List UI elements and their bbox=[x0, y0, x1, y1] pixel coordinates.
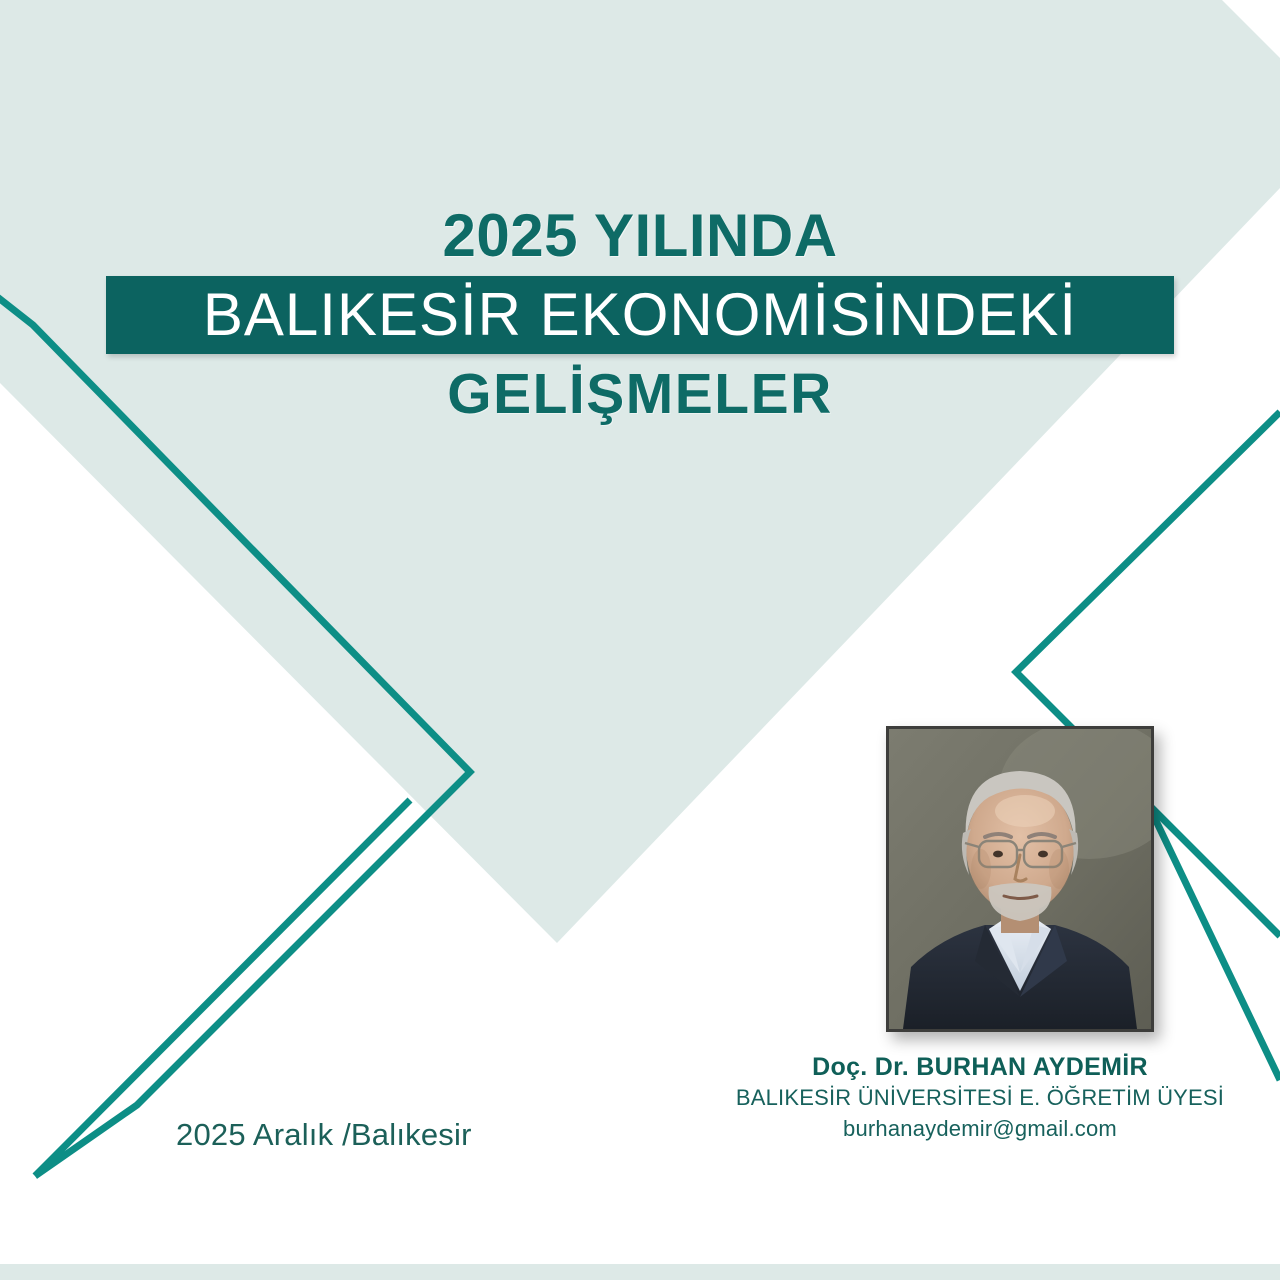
presenter-name: Doç. Dr. BURHAN AYDEMİR bbox=[700, 1052, 1260, 1083]
title-banner-text: BALIKESİR EKONOMİSİNDEKİ bbox=[203, 285, 1077, 345]
presentation-slide: 2025 YILINDA BALIKESİR EKONOMİSİNDEKİ GE… bbox=[0, 0, 1280, 1280]
date-and-place: 2025 Aralık /Balıkesir bbox=[176, 1117, 472, 1153]
presenter-affiliation: BALIKESİR ÜNİVERSİTESİ E. ÖĞRETİM ÜYESİ bbox=[700, 1083, 1260, 1113]
title-block: 2025 YILINDA BALIKESİR EKONOMİSİNDEKİ GE… bbox=[0, 206, 1280, 423]
bottom-band bbox=[0, 1264, 1280, 1280]
presenter-info: Doç. Dr. BURHAN AYDEMİR BALIKESİR ÜNİVER… bbox=[700, 1052, 1260, 1145]
title-banner: BALIKESİR EKONOMİSİNDEKİ bbox=[106, 276, 1174, 354]
presenter-email: burhanaydemir@gmail.com bbox=[700, 1113, 1260, 1145]
accent-line-lower-right bbox=[1148, 804, 1280, 1080]
portrait-photo-image bbox=[889, 729, 1151, 1029]
title-line-year: 2025 YILINDA bbox=[0, 206, 1280, 266]
title-line-subject: GELİŞMELER bbox=[0, 366, 1280, 423]
presenter-photo bbox=[886, 726, 1154, 1032]
